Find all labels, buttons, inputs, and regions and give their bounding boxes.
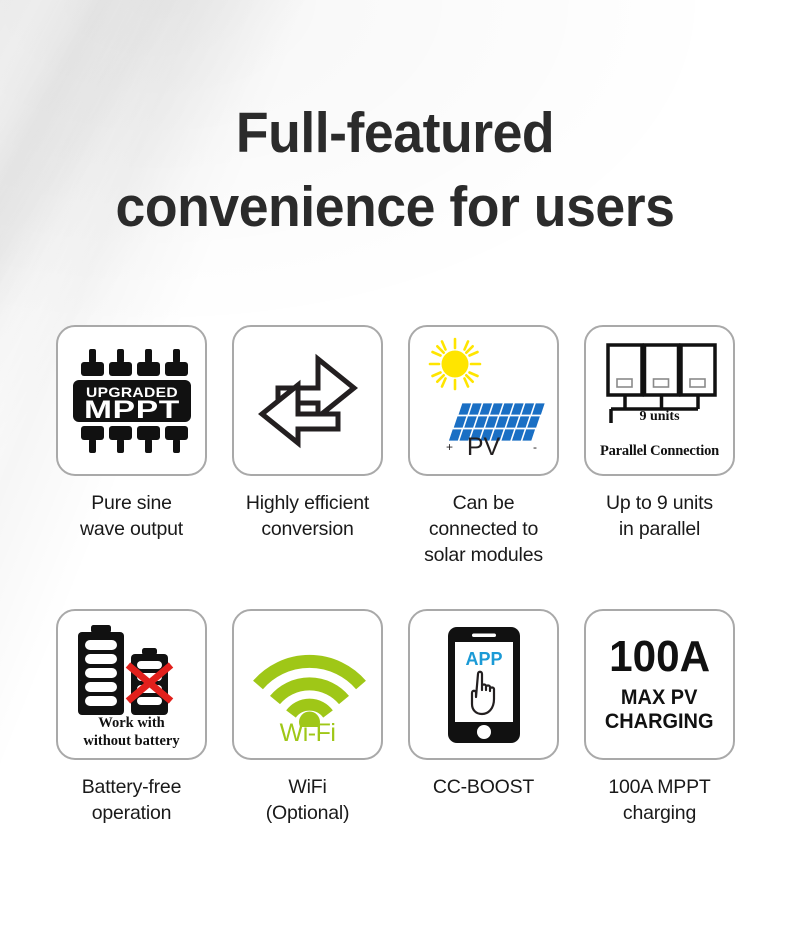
chip-mppt-text: MPPT bbox=[84, 396, 180, 424]
feature-grid: UPGRADED MPPT Pure sine wave output bbox=[56, 325, 736, 826]
feature-card-battery-free[interactable]: Work with without battery Battery-free o… bbox=[56, 609, 207, 826]
smartphone-app-hand-icon: APP bbox=[410, 611, 557, 758]
feature-card-wifi-optional[interactable]: Wi-Fi WiFi (Optional) bbox=[232, 609, 383, 826]
caption-line: (Optional) bbox=[232, 800, 383, 826]
caption-line: wave output bbox=[56, 516, 207, 542]
feature-card-pure-sine-wave[interactable]: UPGRADED MPPT Pure sine wave output bbox=[56, 325, 207, 568]
battery-caption-line: without battery bbox=[58, 732, 205, 750]
feature-icon-frame: 100A MAX PV CHARGING bbox=[584, 609, 735, 760]
page-title-line-1: Full-featured bbox=[24, 96, 767, 170]
caption-line: operation bbox=[56, 800, 207, 826]
amp-sublabel-line: MAX PV bbox=[605, 686, 714, 710]
feature-card-parallel-units[interactable]: 9 units Parallel Connection Up to 9 unit… bbox=[584, 325, 735, 568]
feature-icon-frame: UPGRADED MPPT bbox=[56, 325, 207, 476]
feature-icon-frame: Wi-Fi bbox=[232, 609, 383, 760]
feature-highlights-page: Full-featured convenience for users bbox=[0, 0, 790, 934]
parallel-connection-label: Parallel Connection bbox=[586, 443, 733, 460]
feature-caption: WiFi (Optional) bbox=[232, 774, 383, 826]
caption-line: CC-BOOST bbox=[408, 774, 559, 800]
caption-line: Pure sine bbox=[56, 490, 207, 516]
row-spacer bbox=[232, 568, 383, 609]
app-label: APP bbox=[465, 649, 502, 669]
caption-line: 100A MPPT bbox=[584, 774, 735, 800]
page-title: Full-featured convenience for users bbox=[24, 96, 767, 244]
caption-line: Can be bbox=[408, 490, 559, 516]
feature-caption: Up to 9 units in parallel bbox=[584, 490, 735, 542]
feature-card-highly-efficient-conversion[interactable]: Highly efficient conversion bbox=[232, 325, 383, 568]
parallel-units-label: 9 units bbox=[586, 409, 733, 425]
feature-card-cc-boost[interactable]: APP CC-BOOST bbox=[408, 609, 559, 826]
caption-line: WiFi bbox=[232, 774, 383, 800]
feature-card-mppt-charging[interactable]: 100A MAX PV CHARGING 100A MPPT charging bbox=[584, 609, 735, 826]
caption-line: Highly efficient bbox=[232, 490, 383, 516]
amp-sublabel: MAX PV CHARGING bbox=[605, 686, 714, 734]
sun-disc bbox=[442, 351, 469, 378]
row-spacer bbox=[584, 568, 735, 609]
battery-full-icon bbox=[78, 625, 124, 715]
battery-caption: Work with without battery bbox=[58, 714, 205, 750]
row-spacer bbox=[56, 568, 207, 609]
feature-caption: Highly efficient conversion bbox=[232, 490, 383, 542]
max-pv-charging-icon: 100A MAX PV CHARGING bbox=[586, 611, 733, 758]
smartphone-svg: APP bbox=[448, 627, 520, 743]
two-way-arrows-icon bbox=[234, 327, 381, 474]
feature-caption: Pure sine wave output bbox=[56, 490, 207, 542]
wifi-label: Wi-Fi bbox=[234, 719, 381, 748]
caption-line: solar modules bbox=[408, 542, 559, 568]
feature-icon-frame: 9 units Parallel Connection bbox=[584, 325, 735, 476]
page-title-line-2: convenience for users bbox=[24, 170, 767, 244]
feature-caption: CC-BOOST bbox=[408, 774, 559, 800]
two-way-arrows-svg bbox=[256, 349, 360, 453]
caption-line: Up to 9 units bbox=[584, 490, 735, 516]
caption-line: Battery-free bbox=[56, 774, 207, 800]
wifi-icon bbox=[234, 627, 383, 727]
feature-caption: Can be connected to solar modules bbox=[408, 490, 559, 568]
caption-line: charging bbox=[584, 800, 735, 826]
pv-label: PV bbox=[410, 433, 557, 462]
parallel-connection-icon bbox=[586, 341, 735, 441]
mppt-chip-svg: UPGRADED MPPT bbox=[73, 347, 191, 455]
feature-icon-frame bbox=[232, 325, 383, 476]
mppt-chip-icon: UPGRADED MPPT bbox=[58, 327, 205, 474]
feature-card-solar-modules[interactable]: + - PV Can be connected to solar modules bbox=[408, 325, 559, 568]
feature-icon-frame: Work with without battery bbox=[56, 609, 207, 760]
battery-no-battery-icon bbox=[58, 621, 207, 723]
caption-line: conversion bbox=[232, 516, 383, 542]
caption-line: in parallel bbox=[584, 516, 735, 542]
caption-line: connected to bbox=[408, 516, 559, 542]
feature-caption: 100A MPPT charging bbox=[584, 774, 735, 826]
feature-icon-frame: + - PV bbox=[408, 325, 559, 476]
amp-sublabel-line: CHARGING bbox=[605, 710, 714, 734]
feature-caption: Battery-free operation bbox=[56, 774, 207, 826]
amp-value: 100A bbox=[609, 635, 710, 679]
row-spacer bbox=[408, 568, 559, 609]
feature-icon-frame: APP bbox=[408, 609, 559, 760]
battery-caption-line: Work with bbox=[58, 714, 205, 732]
